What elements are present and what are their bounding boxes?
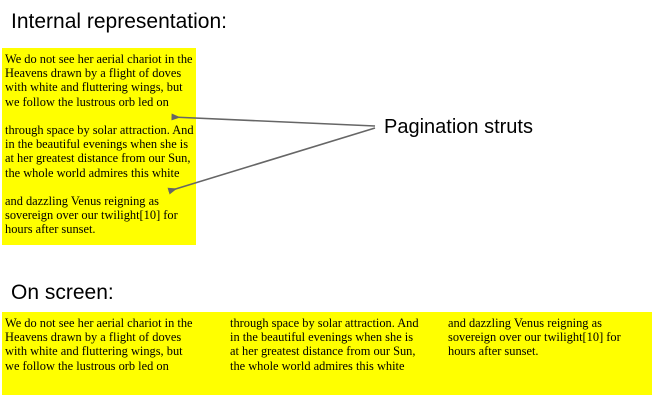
internal-paragraph-2-line-1: through space by solar attraction. And: [5, 123, 194, 137]
internal-paragraph-1-line-4: we follow the lustrous orb led on: [5, 95, 194, 109]
on-screen-col1-line-2: Heavens drawn by a flight of doves: [5, 330, 220, 344]
on-screen-col2-line-2: in the beautiful evenings when she is: [230, 330, 440, 344]
on-screen-col2-line-3: at her greatest distance from our Sun,: [230, 344, 440, 358]
internal-paragraph-1-line-2: Heavens drawn by a flight of doves: [5, 66, 194, 80]
arrow-to-strut-1: [172, 117, 375, 126]
on-screen-text-band: We do not see her aerial chariot in the …: [2, 312, 652, 395]
pagination-strut-1: [5, 109, 194, 123]
on-screen-column-2: through space by solar attraction. And i…: [230, 316, 440, 373]
internal-paragraph-3-line-1: and dazzling Venus reigning as: [5, 194, 194, 208]
on-screen-col1-line-4: we follow the lustrous orb led on: [5, 359, 220, 373]
internal-paragraph-2-line-4: the whole world admires this white: [5, 166, 194, 180]
on-screen-col3-line-3: hours after sunset.: [448, 344, 653, 358]
internal-paragraph-2-line-3: at her greatest distance from our Sun,: [5, 151, 194, 165]
internal-representation-heading: Internal representation:: [11, 9, 227, 34]
on-screen-col1-line-3: with white and fluttering wings, but: [5, 344, 220, 358]
on-screen-column-3: and dazzling Venus reigning as sovereign…: [448, 316, 653, 359]
internal-paragraph-1-line-1: We do not see her aerial chariot in the: [5, 52, 194, 66]
pagination-strut-2: [5, 180, 194, 194]
on-screen-col3-line-2: sovereign over our twilight[10] for: [448, 330, 653, 344]
internal-paragraph-3-line-2: sovereign over our twilight[10] for: [5, 208, 194, 222]
pagination-struts-label: Pagination struts: [384, 115, 533, 139]
internal-paragraph-2-line-2: in the beautiful evenings when she is: [5, 137, 194, 151]
internal-paragraph-1-line-3: with white and fluttering wings, but: [5, 80, 194, 94]
on-screen-col1-line-1: We do not see her aerial chariot in the: [5, 316, 220, 330]
on-screen-col2-line-4: the whole world admires this white: [230, 359, 440, 373]
internal-representation-text-block: We do not see her aerial chariot in the …: [2, 48, 196, 245]
on-screen-heading: On screen:: [11, 280, 114, 305]
on-screen-col3-line-1: and dazzling Venus reigning as: [448, 316, 653, 330]
arrow-to-strut-2: [169, 128, 375, 191]
on-screen-col2-line-1: through space by solar attraction. And: [230, 316, 440, 330]
on-screen-column-1: We do not see her aerial chariot in the …: [5, 316, 220, 373]
internal-paragraph-3-line-3: hours after sunset.: [5, 222, 194, 236]
